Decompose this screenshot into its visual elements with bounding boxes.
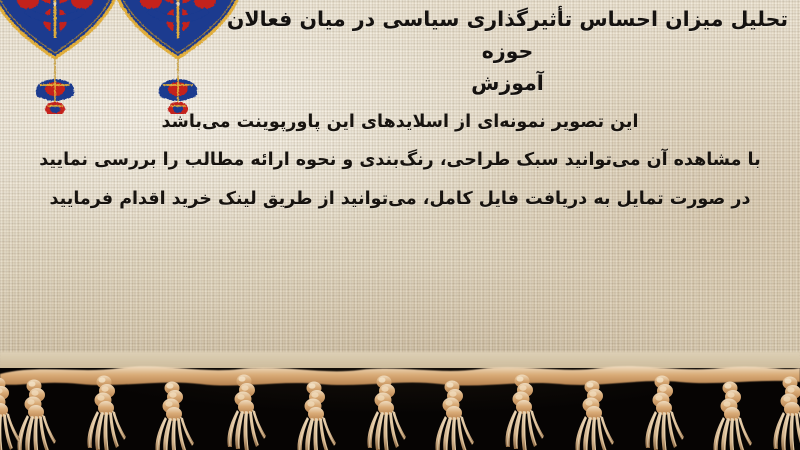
tassel-fringe-svg: [0, 358, 800, 450]
tassel-fringe: [0, 358, 800, 450]
slide-title-line-1: تحلیل میزان احساس تأثیرگذاری سیاسی در می…: [225, 4, 790, 68]
medallion-left: [0, 0, 124, 114]
fringe-cord: [0, 366, 800, 385]
slide-title: تحلیل میزان احساس تأثیرگذاری سیاسی در می…: [225, 4, 790, 99]
slide-body-line-2: با مشاهده آن می‌توانید سبک طراحی، رنگ‌بن…: [30, 146, 770, 174]
presentation-slide: تحلیل میزان احساس تأثیرگذاری سیاسی در می…: [0, 0, 800, 450]
slide-body-line-1: این تصویر نمونه‌ای از اسلایدهای این پاور…: [30, 108, 770, 136]
slide-body: این تصویر نمونه‌ای از اسلایدهای این پاور…: [30, 108, 770, 213]
tassel-row: [0, 375, 800, 450]
persian-medallion-ornament-svg: [0, 0, 250, 114]
slide-title-line-2: آموزش: [225, 68, 790, 100]
slide-body-line-3: در صورت تمایل به دریافت فایل کامل، می‌تو…: [30, 185, 770, 213]
ornament-group: [0, 0, 250, 114]
